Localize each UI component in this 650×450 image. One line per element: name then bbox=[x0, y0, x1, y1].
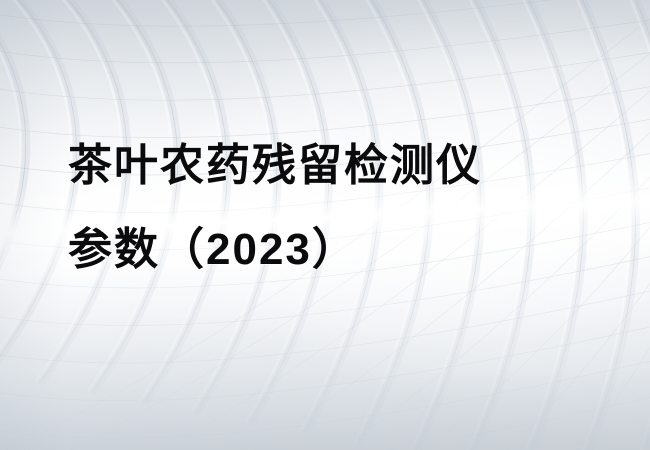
title-line-primary: 茶叶农药残留检测仪 bbox=[68, 124, 608, 208]
title-line-secondary: 参数（2023） bbox=[68, 208, 608, 292]
title-slide: 茶叶农药残留检测仪 参数（2023） bbox=[0, 0, 650, 450]
page-title: 茶叶农药残留检测仪 参数（2023） bbox=[68, 124, 608, 292]
